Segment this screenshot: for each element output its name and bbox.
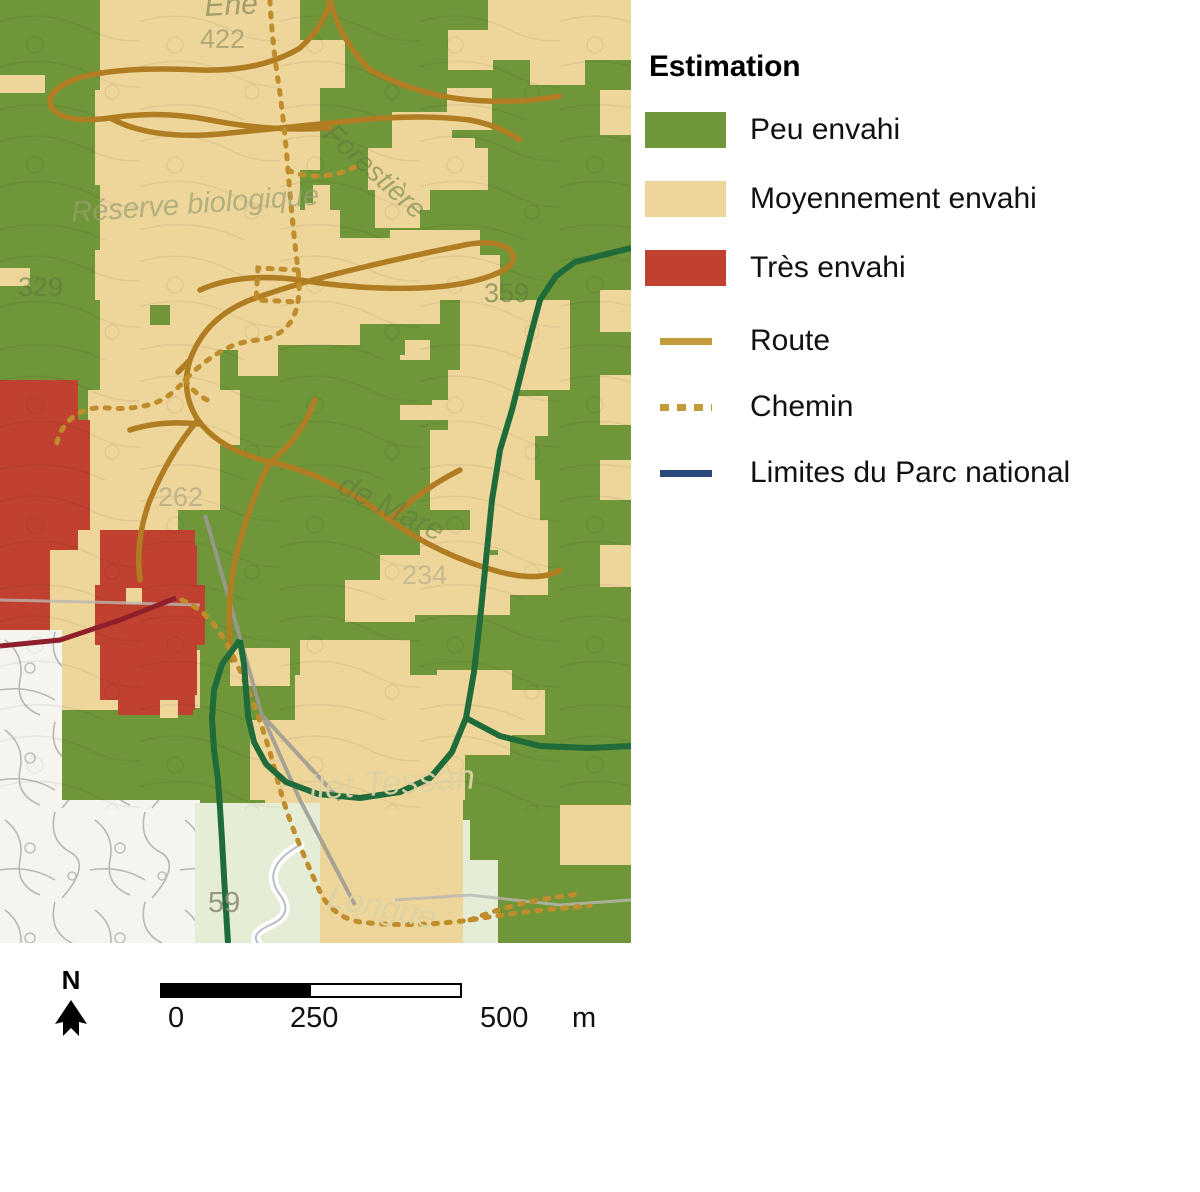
legend-item-chemin[interactable]: Chemin — [645, 385, 1197, 429]
legend-label-tres-envahi: Très envahi — [750, 253, 906, 283]
scale-bar-graphic — [160, 983, 462, 998]
legend-item-route[interactable]: Route — [645, 319, 1197, 363]
legend-label-route: Route — [750, 326, 830, 356]
color-swatch-peu-envahi — [645, 112, 726, 148]
svg-text:59: 59 — [208, 887, 240, 919]
scale-tick-250: 250 — [290, 1004, 338, 1033]
dashed-line-icon-chemin — [645, 385, 726, 429]
map-legend: Estimation Peu envahi Moyennement envahi… — [645, 52, 1197, 517]
legend-label-chemin: Chemin — [750, 392, 853, 422]
svg-text:359: 359 — [484, 278, 529, 308]
scale-tick-500: 500 — [480, 1004, 528, 1033]
legend-label-moyennement-envahi: Moyennement envahi — [750, 184, 1037, 214]
solid-line-icon-route — [645, 319, 726, 363]
scale-bar-filled-half — [162, 985, 311, 996]
map-figure: Ene 422 Réserve biologique Forestière 32… — [0, 0, 1200, 1192]
svg-text:234: 234 — [402, 560, 447, 590]
svg-text:422: 422 — [200, 24, 245, 54]
solid-line-icon-limites — [645, 451, 726, 495]
map-furniture: N 0 250 500 m — [0, 943, 631, 1073]
legend-item-moyennement-envahi[interactable]: Moyennement envahi — [645, 181, 1197, 217]
map-raster-layers: Ene 422 Réserve biologique Forestière 32… — [0, 0, 631, 943]
legend-label-limites-parc-national: Limites du Parc national — [750, 458, 1070, 488]
scale-unit-label: m — [572, 1004, 596, 1033]
scale-bar: 0 250 500 m — [160, 983, 600, 1044]
legend-item-tres-envahi[interactable]: Très envahi — [645, 250, 1197, 286]
svg-text:329: 329 — [18, 272, 63, 302]
north-arrow-icon — [53, 998, 89, 1038]
north-letter: N — [48, 967, 94, 993]
legend-label-peu-envahi: Peu envahi — [750, 115, 900, 145]
svg-text:262: 262 — [158, 482, 203, 512]
color-swatch-moyennement-envahi — [645, 181, 726, 217]
map-canvas[interactable]: Ene 422 Réserve biologique Forestière 32… — [0, 0, 631, 943]
svg-text:Ene: Ene — [204, 0, 259, 23]
color-swatch-tres-envahi — [645, 250, 726, 286]
north-arrow: N — [48, 967, 94, 1043]
legend-line-group: Route Chemin Limites du Parc national — [645, 319, 1197, 495]
scale-bar-labels: 0 250 500 m — [160, 1004, 600, 1044]
scale-tick-0: 0 — [168, 1004, 184, 1033]
legend-title: Estimation — [649, 52, 1197, 82]
legend-item-limites-parc-national[interactable]: Limites du Parc national — [645, 451, 1197, 495]
legend-item-peu-envahi[interactable]: Peu envahi — [645, 112, 1197, 148]
